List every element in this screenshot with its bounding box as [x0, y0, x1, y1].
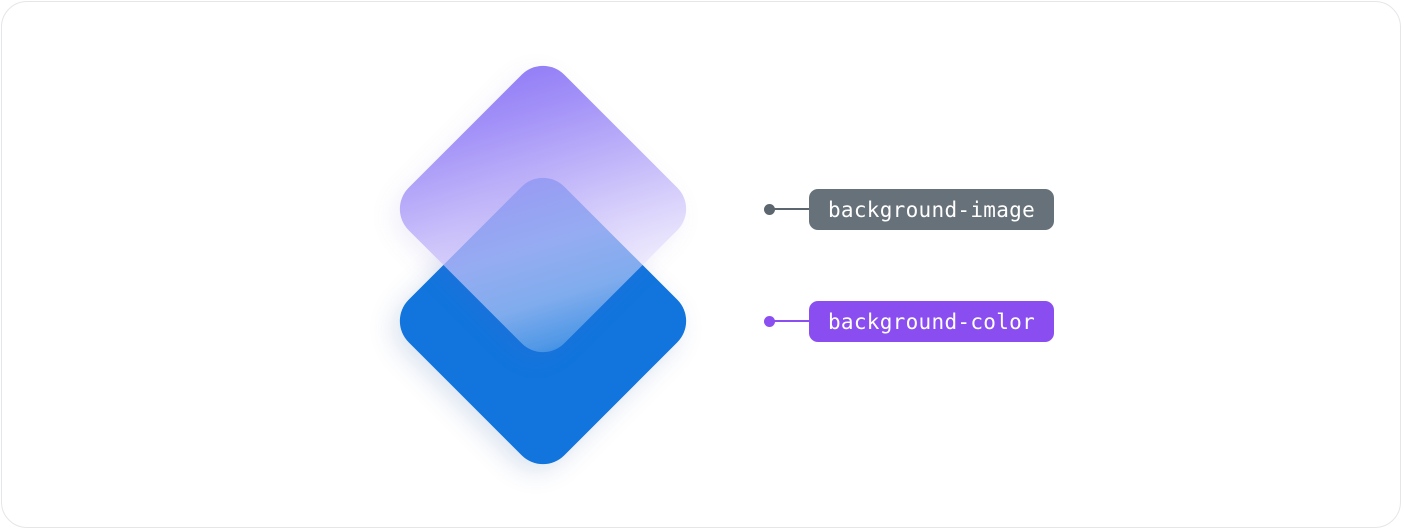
badge-background-color[interactable]: background-color — [809, 301, 1054, 342]
badge-background-image[interactable]: background-image — [809, 189, 1054, 230]
diagram-canvas: background-image background-color — [0, 0, 1404, 531]
badge-label: background-image — [828, 198, 1035, 222]
badge-label: background-color — [828, 310, 1035, 334]
card-frame — [1, 1, 1401, 528]
